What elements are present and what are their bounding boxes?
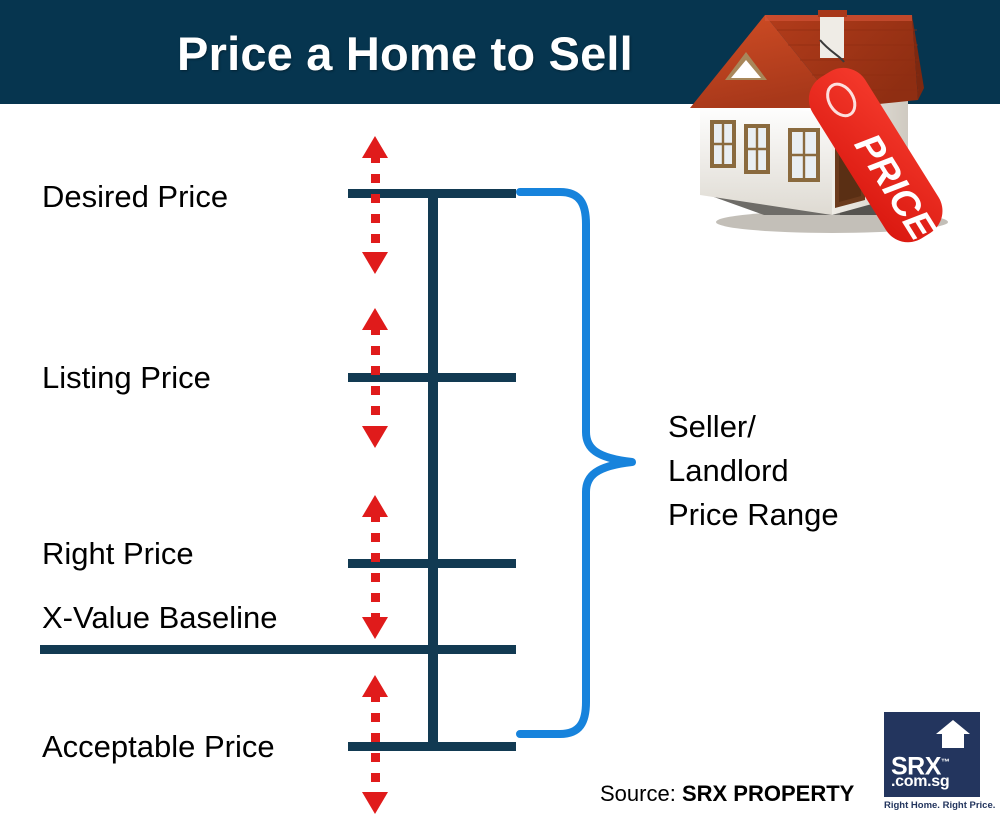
arrow-shaft-dotted	[371, 513, 380, 621]
house-svg: PRICE?	[672, 0, 1000, 246]
curly-brace-icon	[512, 180, 652, 760]
arrow-head-down-icon	[362, 617, 388, 639]
price-label-x-value-baseline: X-Value Baseline	[42, 601, 278, 635]
price-label-desired-price: Desired Price	[42, 180, 228, 214]
vertical-axis-spine	[428, 189, 438, 751]
arrow-shaft-dotted	[371, 693, 380, 796]
source-value: SRX PROPERTY	[682, 781, 854, 806]
arrow-shaft-dotted	[371, 154, 380, 256]
price-label-listing-price: Listing Price	[42, 361, 211, 395]
price-label-right-price: Right Price	[42, 537, 194, 571]
house-illustration: PRICE?	[672, 0, 1000, 246]
srx-logo[interactable]: SRX™ .com.sg Right Home. Right Price.	[884, 712, 984, 817]
price-label-acceptable-price: Acceptable Price	[42, 730, 275, 764]
srx-logo-box: SRX™ .com.sg	[884, 712, 980, 797]
double-arrow-right-price	[362, 495, 389, 639]
srx-tagline: Right Home. Right Price.	[884, 800, 984, 811]
house-icon	[935, 719, 971, 749]
double-arrow-listing	[362, 308, 389, 448]
source-label: Source:	[600, 781, 676, 806]
slide-canvas: Price a Home to Sell	[0, 0, 1000, 839]
arrow-head-down-icon	[362, 252, 388, 274]
baseline-line-x-value	[40, 645, 516, 654]
seller-price-range-annotation: Seller/ Landlord Price Range	[668, 405, 839, 537]
arrow-head-down-icon	[362, 426, 388, 448]
double-arrow-acceptable	[362, 675, 389, 814]
double-arrow-desired	[362, 136, 389, 274]
source-credit: Source: SRX PROPERTY	[600, 781, 854, 807]
srx-domain: .com.sg	[891, 774, 949, 790]
range-line-2: Landlord	[668, 449, 839, 493]
arrow-shaft-dotted	[371, 326, 380, 430]
range-line-1: Seller/	[668, 405, 839, 449]
arrow-head-down-icon	[362, 792, 388, 814]
range-line-3: Price Range	[668, 493, 839, 537]
trademark-symbol: ™	[941, 757, 950, 767]
